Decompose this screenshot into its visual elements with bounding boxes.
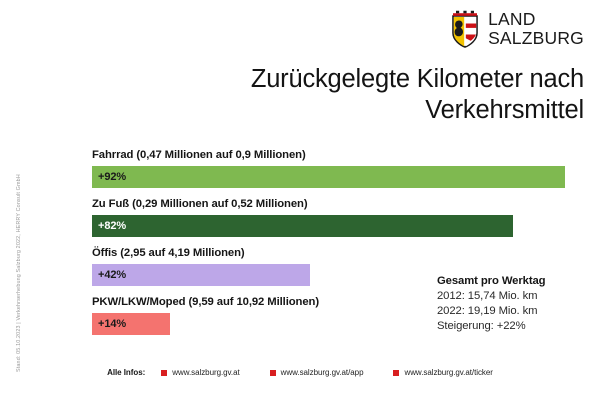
footer-label: Alle Infos: xyxy=(107,368,145,377)
page-title-line-2: Verkehrsmittel xyxy=(425,96,584,124)
square-bullet-icon xyxy=(161,370,167,376)
square-bullet-icon xyxy=(393,370,399,376)
bar-value-fahrrad: +92% xyxy=(98,172,126,183)
land-salzburg-logo: LAND SALZBURG xyxy=(450,10,584,49)
bar-fahrrad: +92% xyxy=(92,166,565,188)
bar-value-oeffis: +42% xyxy=(98,270,126,281)
page-title-line-1: Zurückgelegte Kilometer nach xyxy=(251,65,584,93)
page-title: Zurückgelegte Kilometer nach Verkehrsmit… xyxy=(154,64,584,126)
bar-oeffis: +42% xyxy=(92,264,310,286)
summary-heading: Gesamt pro Werktag xyxy=(437,274,587,289)
footer-link-website[interactable]: www.salzburg.gv.at xyxy=(161,368,239,377)
summary-value-2022: 2022: 19,19 Mio. km xyxy=(437,304,587,319)
bar-group-fahrrad: Fahrrad (0,47 Millionen auf 0,9 Millione… xyxy=(92,148,582,188)
source-credit-text: Stand: 05.10.2023 | Verkehrserhebung Sal… xyxy=(16,174,22,372)
footer-link-website-url: www.salzburg.gv.at xyxy=(172,368,239,377)
bar-value-zu-fuss: +82% xyxy=(98,221,126,232)
summary-value-increase: Steigerung: +22% xyxy=(437,319,587,334)
bar-label-fahrrad: Fahrrad (0,47 Millionen auf 0,9 Millione… xyxy=(92,148,582,162)
summary-box: Gesamt pro Werktag 2012: 15,74 Mio. km 2… xyxy=(437,274,587,334)
logo-line-salzburg: SALZBURG xyxy=(488,28,584,48)
logo-line-land: LAND xyxy=(488,9,535,29)
bar-value-pkw-lkw-moped: +14% xyxy=(98,319,126,330)
bar-label-oeffis: Öffis (2,95 auf 4,19 Millionen) xyxy=(92,246,582,260)
summary-value-2012: 2012: 15,74 Mio. km xyxy=(437,289,587,304)
footer-link-ticker[interactable]: www.salzburg.gv.at/ticker xyxy=(393,368,492,377)
footer-links-bar: Alle Infos: www.salzburg.gv.at www.salzb… xyxy=(0,368,600,377)
footer-link-ticker-url: www.salzburg.gv.at/ticker xyxy=(404,368,492,377)
bar-group-zu-fuss: Zu Fuß (0,29 Millionen auf 0,52 Millione… xyxy=(92,197,582,237)
footer-link-app-url: www.salzburg.gv.at/app xyxy=(281,368,364,377)
logo-wordmark: LAND SALZBURG xyxy=(488,10,584,49)
bar-label-zu-fuss: Zu Fuß (0,29 Millionen auf 0,52 Millione… xyxy=(92,197,582,211)
salzburg-coat-of-arms-icon xyxy=(450,10,480,48)
bar-pkw-lkw-moped: +14% xyxy=(92,313,170,335)
footer-link-app[interactable]: www.salzburg.gv.at/app xyxy=(270,368,364,377)
source-credit: Stand: 05.10.2023 | Verkehrserhebung Sal… xyxy=(0,0,26,400)
bar-zu-fuss: +82% xyxy=(92,215,513,237)
square-bullet-icon xyxy=(270,370,276,376)
